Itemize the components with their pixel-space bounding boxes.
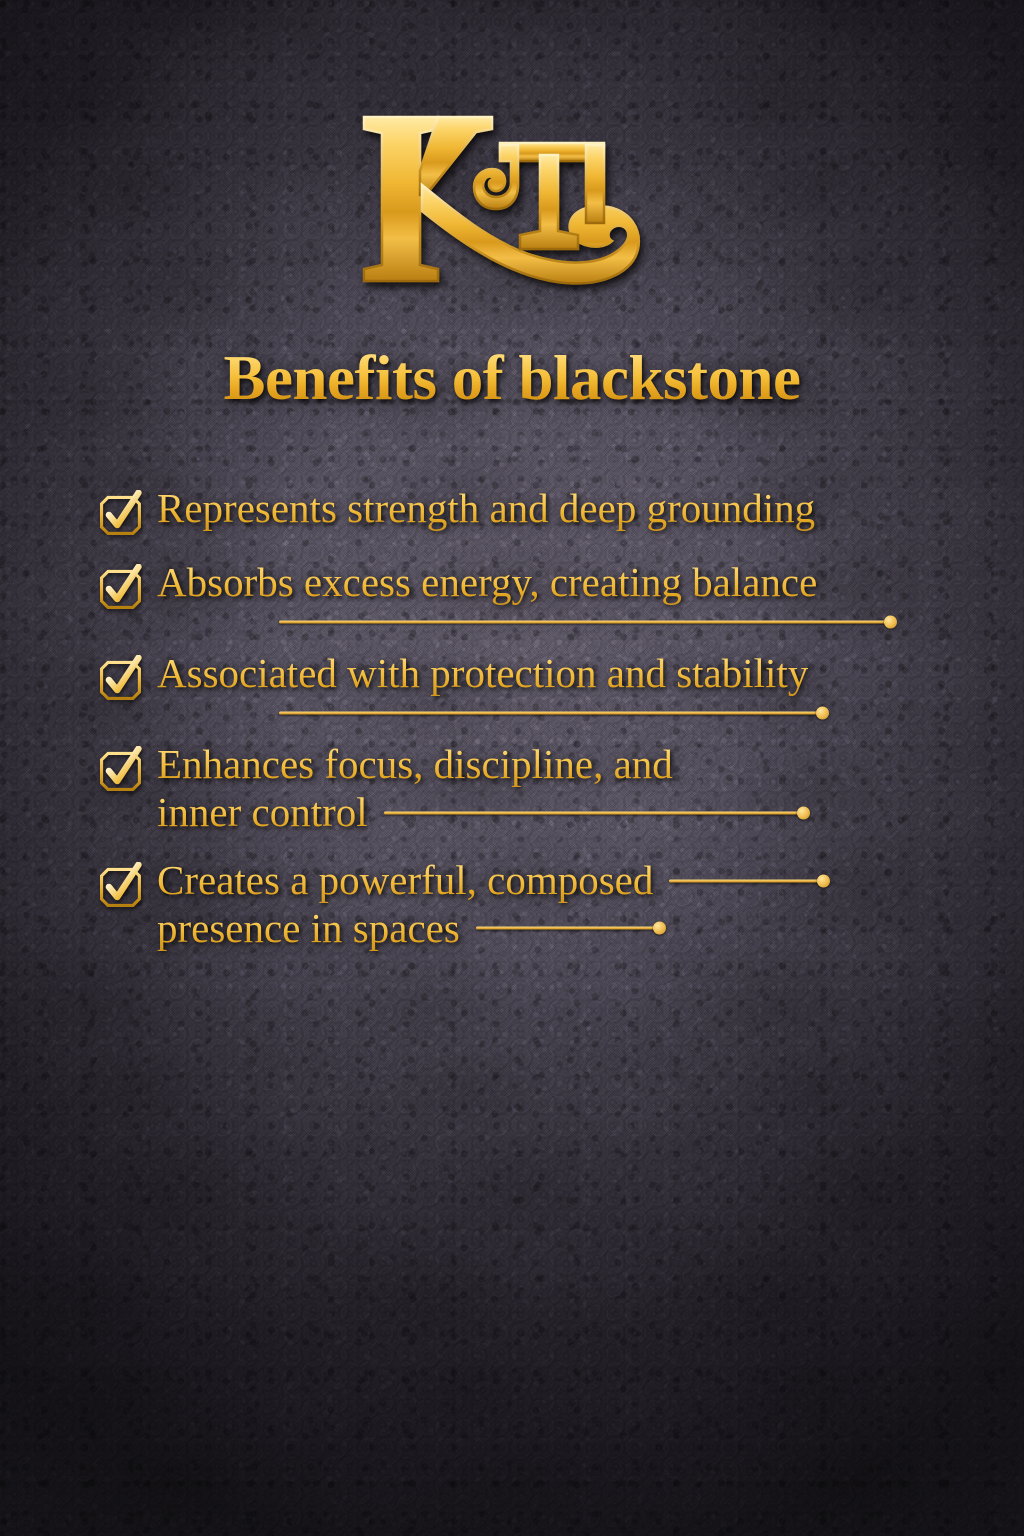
list-item-text: Creates a powerful, composed (157, 858, 653, 904)
list-item-line: Creates a powerful, composed (157, 858, 976, 904)
list-item-line: Associated with protection and stability (157, 651, 976, 697)
list-item-text: inner control (157, 790, 368, 836)
list-item-text: Associated with protection and stability (157, 651, 808, 697)
poster-canvas: Benefits of blackstone (0, 0, 1024, 1536)
brand-logo (0, 96, 1024, 301)
list-item-body: Creates a powerful, composed presence in… (157, 858, 976, 952)
list-item-text: presence in spaces (157, 906, 460, 952)
poster-content: Benefits of blackstone (0, 0, 1024, 1536)
list-item-text: Represents strength and deep grounding (157, 486, 815, 532)
list-item-body: Enhances focus, discipline, and inner co… (157, 742, 976, 836)
decorative-rule (476, 921, 666, 935)
benefits-list: Represents strength and deep grounding A… (96, 486, 976, 951)
check-box-icon (96, 564, 144, 612)
check-box-icon (96, 746, 144, 794)
list-item-body: Associated with protection and stability (157, 651, 976, 720)
list-item-line: Represents strength and deep grounding (157, 486, 976, 532)
list-item: Absorbs excess energy, creating balance (96, 560, 976, 629)
list-item-body: Absorbs excess energy, creating balance (157, 560, 976, 629)
list-item-text: Absorbs excess energy, creating balance (157, 560, 817, 606)
decorative-rule (384, 806, 810, 820)
page-title: Benefits of blackstone (0, 347, 1024, 410)
list-item-line: Enhances focus, discipline, and (157, 742, 976, 788)
check-box-icon (96, 655, 144, 703)
list-item: Creates a powerful, composed presence in… (96, 858, 976, 952)
kp-monogram-logo-icon (342, 99, 682, 299)
list-item-line: Absorbs excess energy, creating balance (157, 560, 976, 606)
check-box-icon (96, 490, 144, 538)
list-item-line: inner control (157, 790, 976, 836)
list-item: Enhances focus, discipline, and inner co… (96, 742, 976, 836)
decorative-rule (279, 706, 829, 720)
list-item-body: Represents strength and deep grounding (157, 486, 976, 532)
list-item-text: Enhances focus, discipline, and (157, 742, 673, 788)
decorative-rule (669, 874, 830, 888)
list-item-line: presence in spaces (157, 906, 976, 952)
check-box-icon (96, 862, 144, 910)
list-item: Associated with protection and stability (96, 651, 976, 720)
list-item: Represents strength and deep grounding (96, 486, 976, 538)
decorative-rule (279, 615, 897, 629)
